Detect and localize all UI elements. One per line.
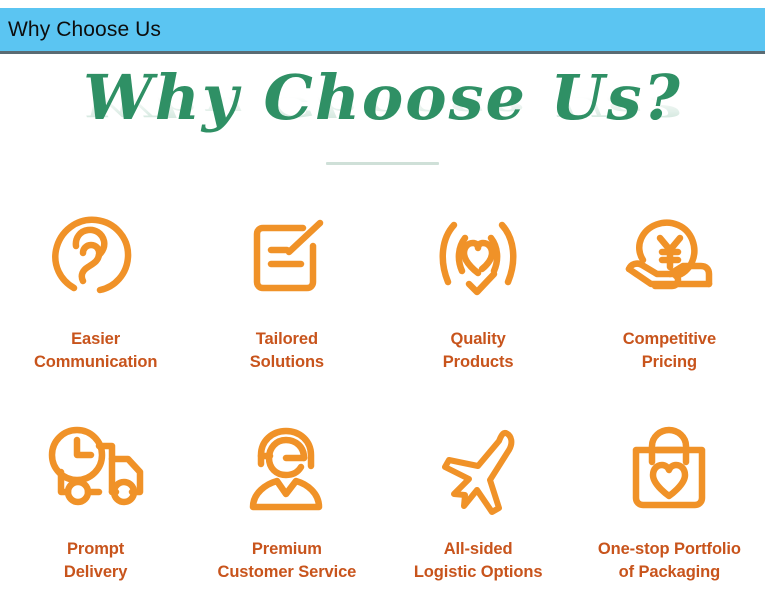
feature-label: Prompt Delivery <box>64 538 127 584</box>
feature-item-quality-products[interactable]: Quality Products <box>383 196 574 410</box>
airplane-icon <box>423 418 533 522</box>
page-title: Why Choose Us? <box>0 62 765 134</box>
feature-label: Tailored Solutions <box>250 328 324 374</box>
feature-label: Premium Customer Service <box>218 538 357 584</box>
hand-holding-yen-coin-icon <box>614 204 724 312</box>
feature-label: Easier Communication <box>34 328 157 374</box>
page-heading-block: Why Choose Us? Why Choose Us? <box>0 62 765 152</box>
feature-label: Quality Products <box>443 328 514 374</box>
heart-soundwaves-check-icon <box>423 204 533 312</box>
feature-item-tailored-solutions[interactable]: Tailored Solutions <box>191 196 382 410</box>
feature-item-one-stop-portfolio-packaging[interactable]: One-stop Portfolio of Packaging <box>574 410 765 599</box>
ear-listening-icon <box>41 204 151 312</box>
delivery-truck-clock-icon <box>41 418 151 522</box>
feature-item-competitive-pricing[interactable]: Competitive Pricing <box>574 196 765 410</box>
window-titlebar: Why Choose Us <box>0 8 765 54</box>
heading-divider <box>326 162 439 165</box>
document-pencil-icon <box>232 204 342 312</box>
feature-label: All-sided Logistic Options <box>414 538 543 584</box>
window-title: Why Choose Us <box>0 19 161 40</box>
feature-item-premium-customer-service[interactable]: Premium Customer Service <box>191 410 382 599</box>
feature-item-easier-communication[interactable]: Easier Communication <box>0 196 191 410</box>
headset-agent-icon <box>232 418 342 522</box>
feature-item-all-sided-logistic-options[interactable]: All-sided Logistic Options <box>383 410 574 599</box>
shopping-bag-heart-icon <box>614 418 724 522</box>
feature-label: Competitive Pricing <box>623 328 716 374</box>
feature-grid: Easier Communication Tailored Solutions <box>0 196 765 599</box>
feature-label: One-stop Portfolio of Packaging <box>598 538 741 584</box>
page-root: Why Choose Us Why Choose Us? Why Choose … <box>0 0 765 599</box>
feature-item-prompt-delivery[interactable]: Prompt Delivery <box>0 410 191 599</box>
